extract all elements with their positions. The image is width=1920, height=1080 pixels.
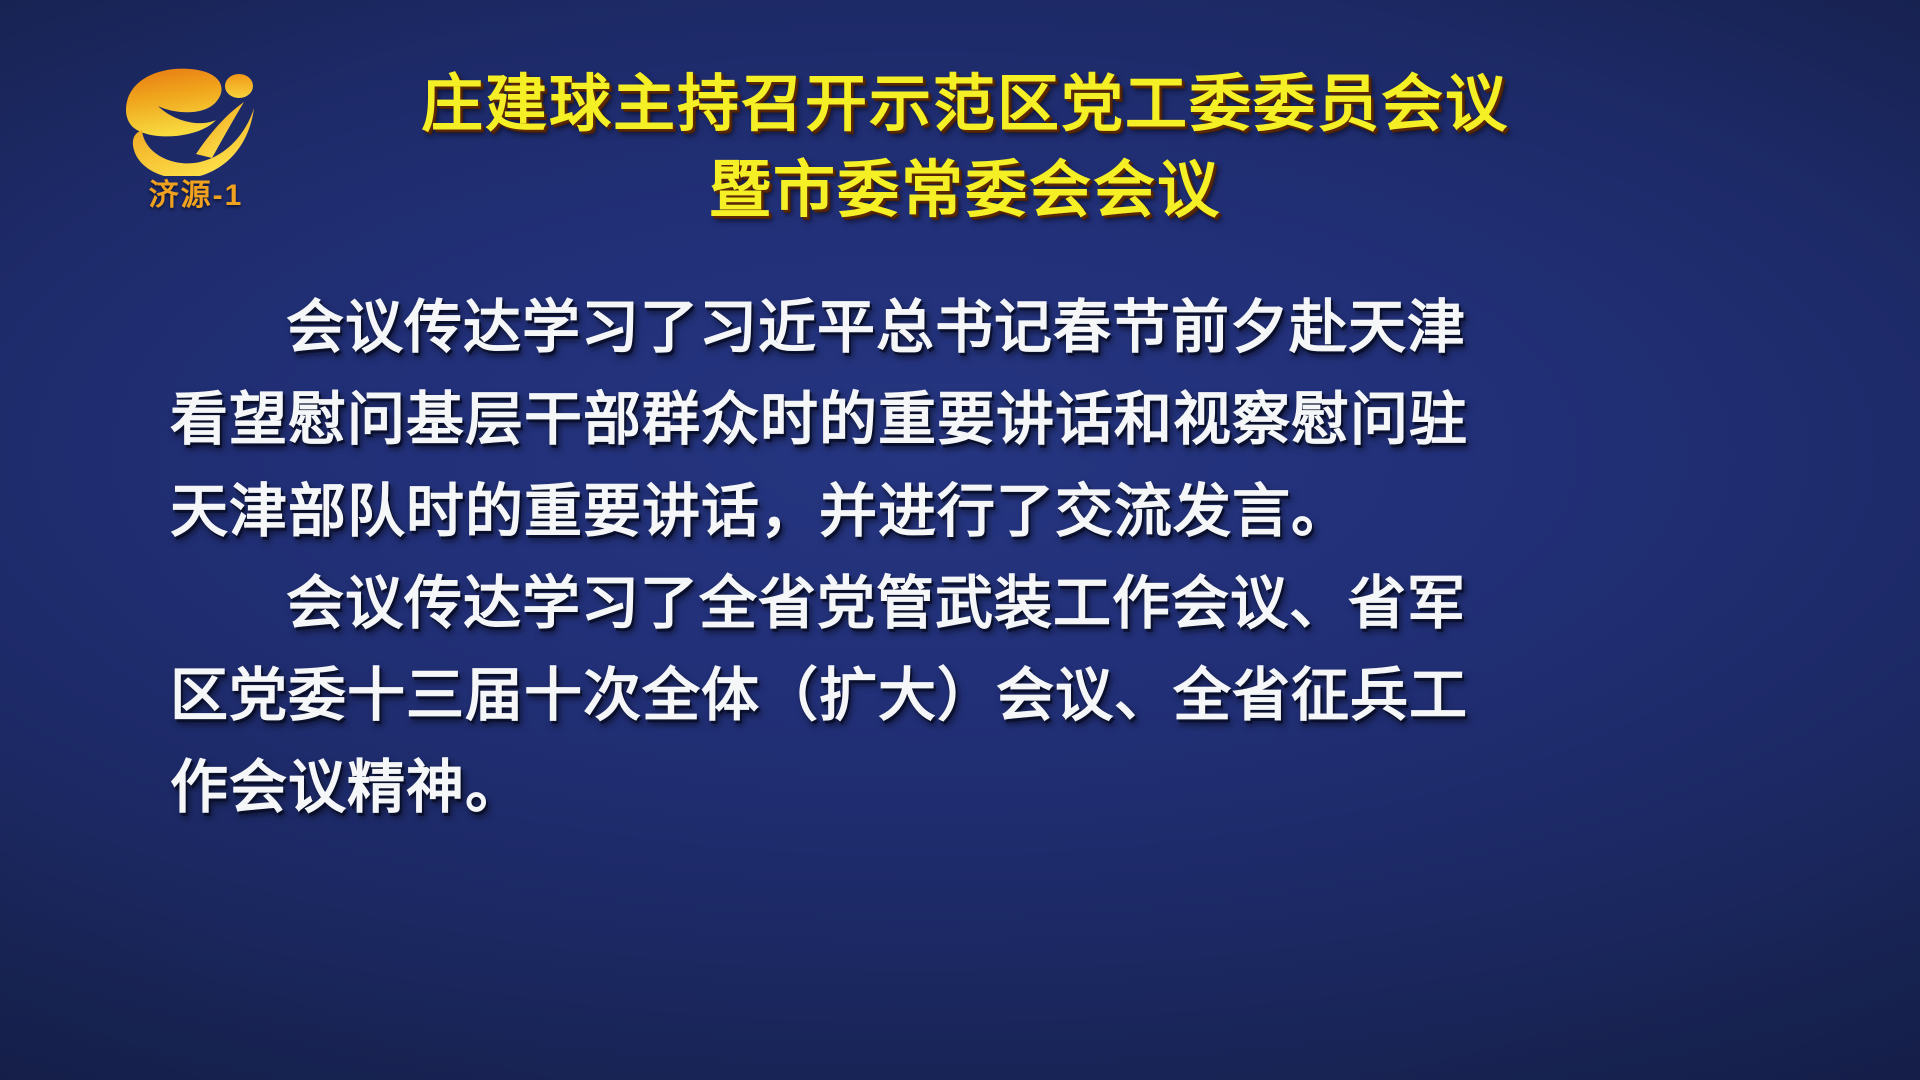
headline: 庄建球主持召开示范区党工委委员会议 暨市委常委会会议	[250, 62, 1680, 234]
paragraph-1-line-1: 会议传达学习了习近平总书记春节前夕赴天津	[170, 282, 1750, 374]
paragraph-1-line-2: 看望慰问基层干部群众时的重要讲话和视察慰问驻	[170, 374, 1750, 466]
paragraph-2-line-3: 作会议精神。	[170, 742, 1750, 834]
paragraph-2-line-2: 区党委十三届十次全体（扩大）会议、全省征兵工	[170, 650, 1750, 742]
jiyuan-tv-swoosh-logo-icon	[112, 58, 272, 176]
paragraph-2-line-1: 会议传达学习了全省党管武装工作会议、省军	[170, 558, 1750, 650]
broadcast-lower-third-screen: 济源-1 庄建球主持召开示范区党工委委员会议 暨市委常委会会议 会议传达学习了习…	[0, 0, 1920, 1080]
headline-line-2: 暨市委常委会会议	[250, 148, 1680, 234]
headline-line-1: 庄建球主持召开示范区党工委委员会议	[250, 62, 1680, 148]
body-copy: 会议传达学习了习近平总书记春节前夕赴天津 看望慰问基层干部群众时的重要讲话和视察…	[170, 282, 1750, 834]
paragraph-1-line-3: 天津部队时的重要讲话，并进行了交流发言。	[170, 466, 1750, 558]
